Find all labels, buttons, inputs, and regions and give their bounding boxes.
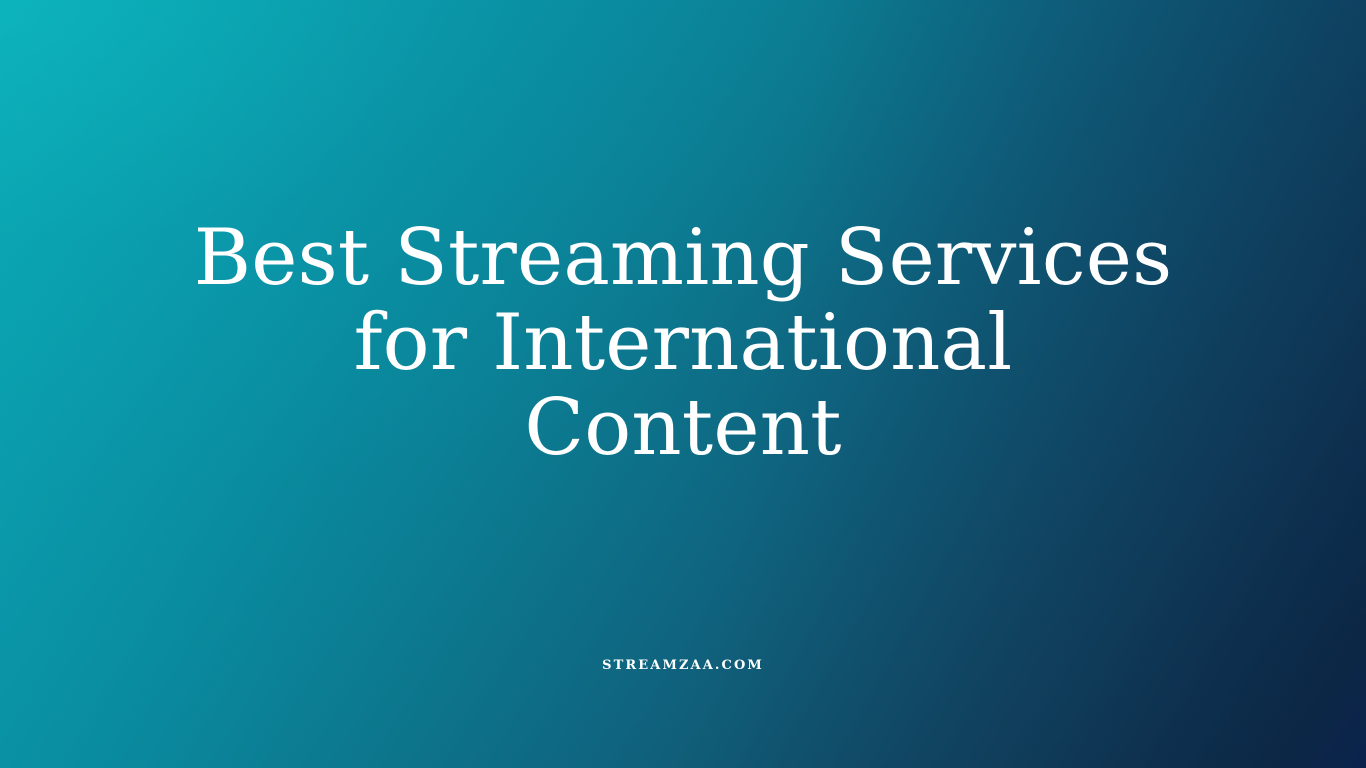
slide-content: Best Streaming Services for Internationa… [0, 0, 1366, 768]
page-title: Best Streaming Services for Internationa… [0, 216, 1366, 471]
footer-brand-label: STREAMZAA.COM [0, 658, 1366, 674]
title-card-slide: Best Streaming Services for Internationa… [0, 0, 1366, 768]
